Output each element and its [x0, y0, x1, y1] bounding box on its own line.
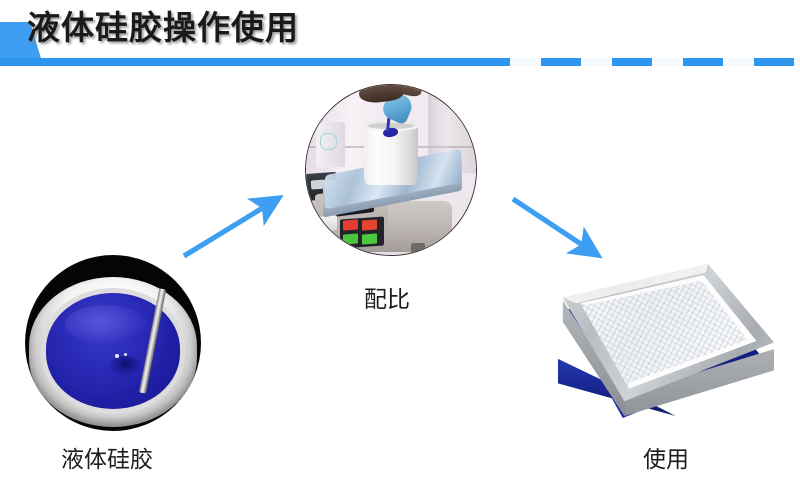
scale-label-sticker	[318, 215, 337, 232]
caption-usage: 使用	[643, 440, 689, 474]
liquid-silicone-bucket-photo	[25, 255, 201, 431]
scale-key-red	[362, 220, 377, 231]
hepa-filter-photo	[548, 262, 784, 430]
scale-key-red	[343, 220, 358, 231]
stirring-vortex	[110, 356, 141, 376]
liquid-sheen	[65, 305, 148, 344]
caption-liquid-silicone: 液体硅胶	[61, 440, 153, 474]
header-divider-dashes	[470, 58, 800, 66]
arrow-proportion-to-usage	[505, 188, 617, 270]
scale-key-green	[343, 233, 358, 244]
scale-key-green	[362, 233, 377, 244]
jar-label-mark	[320, 133, 337, 150]
page-title: 液体硅胶操作使用	[27, 6, 299, 50]
caption-proportion: 配比	[364, 280, 410, 314]
slide-canvas: 液体硅胶操作使用 液体硅胶	[0, 0, 800, 498]
scale-foot	[411, 243, 425, 252]
bucket-rim-inner	[41, 288, 185, 414]
bucket-rim	[29, 277, 197, 427]
arrow-silicone-to-proportion	[175, 188, 287, 264]
slide-header: 液体硅胶操作使用	[0, 0, 800, 68]
weighing-scale-photo	[305, 84, 477, 256]
